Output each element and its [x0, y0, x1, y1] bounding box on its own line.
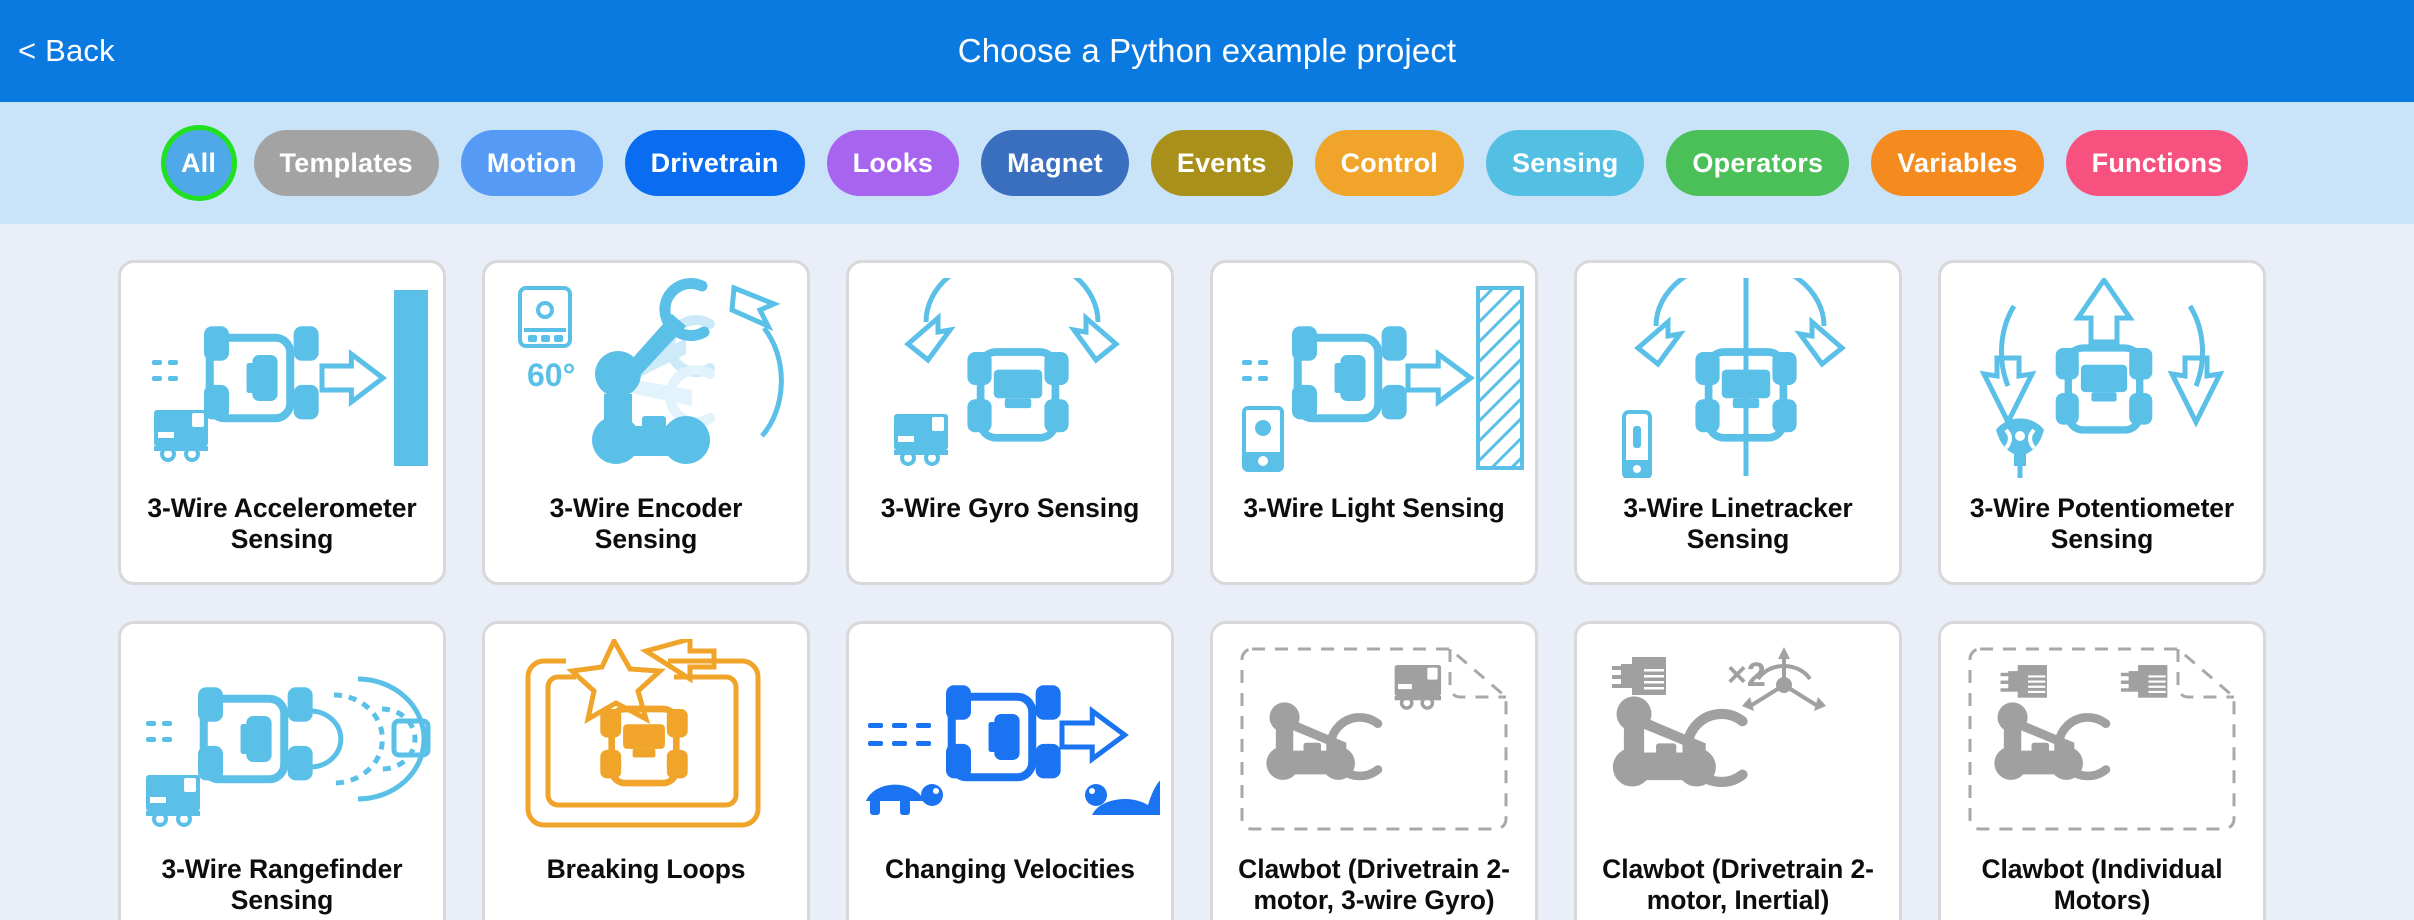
filter-pill-label: Looks	[853, 148, 934, 179]
project-card-illustration	[1213, 624, 1535, 854]
filter-pill-label: Events	[1177, 148, 1267, 179]
filter-pill-all[interactable]: All	[166, 130, 232, 196]
filter-pill-label: Variables	[1897, 148, 2017, 179]
project-card[interactable]: Clawbot (Drivetrain 2-motor, 3-wire Gyro…	[1210, 621, 1538, 920]
project-card-illustration	[849, 263, 1171, 493]
project-card[interactable]: 3-Wire Gyro Sensing	[846, 260, 1174, 585]
project-card-title: Breaking Loops	[485, 854, 807, 920]
filter-pill-label: Operators	[1692, 148, 1823, 179]
project-card[interactable]: Clawbot (Individual Motors)	[1938, 621, 2266, 920]
filter-pill-templates[interactable]: Templates	[254, 130, 439, 196]
filter-pill-label: All	[181, 148, 216, 179]
project-card[interactable]: 3-Wire Light Sensing	[1210, 260, 1538, 585]
filter-pill-motion[interactable]: Motion	[461, 130, 603, 196]
project-card-illustration: 60°	[485, 263, 807, 493]
filter-pill-magnet[interactable]: Magnet	[981, 130, 1129, 196]
filter-pill-label: Control	[1341, 148, 1438, 179]
project-card-title: Clawbot (Individual Motors)	[1941, 854, 2263, 920]
filter-pill-sensing[interactable]: Sensing	[1486, 130, 1644, 196]
project-card-title: Changing Velocities	[849, 854, 1171, 920]
project-card-title: 3-Wire Encoder Sensing	[485, 493, 807, 582]
filter-pill-operators[interactable]: Operators	[1666, 130, 1849, 196]
project-card-title: 3-Wire Light Sensing	[1213, 493, 1535, 582]
app-header: < Back Choose a Python example project	[0, 0, 2414, 102]
project-card-title: 3-Wire Potentiometer Sensing	[1941, 493, 2263, 582]
project-card-illustration	[1941, 624, 2263, 854]
project-card-illustration	[849, 624, 1171, 854]
filter-pill-label: Magnet	[1007, 148, 1103, 179]
project-card-title: 3-Wire Linetracker Sensing	[1577, 493, 1899, 582]
drivetrain-dashed-outline	[1238, 645, 1510, 833]
project-card-illustration	[1213, 263, 1535, 493]
illustration-badge-label: 60°	[527, 357, 575, 394]
filter-pill-control[interactable]: Control	[1315, 130, 1464, 196]
project-card[interactable]: ×2Clawbot (Drivetrain 2-motor, Inertial)	[1574, 621, 1902, 920]
project-card-illustration	[1577, 263, 1899, 493]
project-card[interactable]: Changing Velocities	[846, 621, 1174, 920]
project-card-title: 3-Wire Accelerometer Sensing	[121, 493, 443, 582]
project-card-illustration	[121, 263, 443, 493]
project-card-title: 3-Wire Gyro Sensing	[849, 493, 1171, 582]
project-card[interactable]: 3-Wire Accelerometer Sensing	[118, 260, 446, 585]
filter-pill-looks[interactable]: Looks	[827, 130, 960, 196]
project-card-illustration	[485, 624, 807, 854]
filter-pill-variables[interactable]: Variables	[1871, 130, 2043, 196]
drivetrain-dashed-outline	[1966, 645, 2238, 833]
project-card[interactable]: 3-Wire Linetracker Sensing	[1574, 260, 1902, 585]
filter-pill-label: Motion	[487, 148, 577, 179]
project-card-title: Clawbot (Drivetrain 2-motor, Inertial)	[1577, 854, 1899, 920]
back-button[interactable]: < Back	[18, 33, 115, 69]
project-card-illustration	[1941, 263, 2263, 493]
project-card-title: Clawbot (Drivetrain 2-motor, 3-wire Gyro…	[1213, 854, 1535, 920]
filter-pill-label: Drivetrain	[651, 148, 779, 179]
filter-pill-label: Sensing	[1512, 148, 1618, 179]
project-card-illustration: ×2	[1577, 624, 1899, 854]
filter-pill-label: Functions	[2092, 148, 2223, 179]
project-card[interactable]: Breaking Loops	[482, 621, 810, 920]
filter-pill-drivetrain[interactable]: Drivetrain	[625, 130, 805, 196]
project-card-illustration	[121, 624, 443, 854]
project-card-title: 3-Wire Rangefinder Sensing	[121, 854, 443, 920]
project-card[interactable]: 60°3-Wire Encoder Sensing	[482, 260, 810, 585]
illustration-badge-label: ×2	[1727, 656, 1766, 695]
category-filter-bar: AllTemplatesMotionDrivetrainLooksMagnetE…	[0, 102, 2414, 224]
example-project-grid: 3-Wire Accelerometer Sensing60°3-Wire En…	[0, 224, 2414, 920]
project-card[interactable]: 3-Wire Rangefinder Sensing	[118, 621, 446, 920]
filter-pill-events[interactable]: Events	[1151, 130, 1293, 196]
filter-pill-functions[interactable]: Functions	[2066, 130, 2249, 196]
filter-pill-label: Templates	[280, 148, 413, 179]
project-card[interactable]: 3-Wire Potentiometer Sensing	[1938, 260, 2266, 585]
page-title: Choose a Python example project	[0, 32, 2414, 70]
